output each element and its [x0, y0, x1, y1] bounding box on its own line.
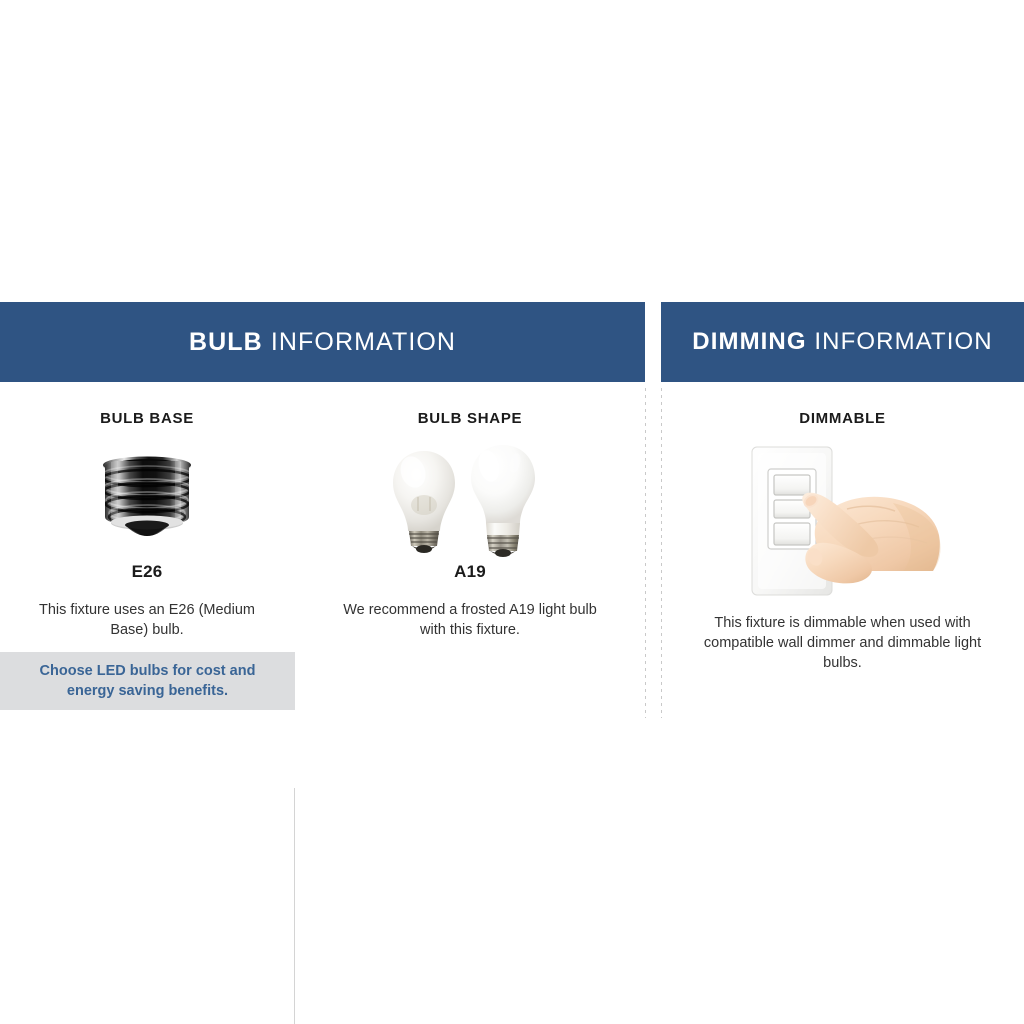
wall-dimmer-switch-icon	[743, 439, 943, 599]
a19-bulbs-icon	[385, 439, 555, 561]
bulb-information-header-title: BULB INFORMATION	[189, 328, 456, 357]
frosted-incandescent-bulb	[393, 451, 455, 553]
dimmable-art-slot	[661, 439, 1024, 599]
bulb-base-spec-label: E26	[0, 562, 294, 582]
bulb-columns-divider	[294, 788, 295, 1024]
bulb-header-strong: BULB	[189, 328, 263, 356]
bulb-base-art-slot	[0, 437, 294, 562]
dimming-information-header-title: DIMMING INFORMATION	[692, 328, 992, 356]
led-callout-box: Choose LED bulbs for cost and energy sav…	[0, 652, 295, 710]
bulb-information-header: BULB INFORMATION	[0, 302, 645, 382]
bulb-base-description: This fixture uses an E26 (Medium Base) b…	[30, 600, 265, 640]
bulb-shape-spec-label: A19	[295, 562, 645, 582]
bulb-base-column: BULB BASE	[0, 382, 294, 640]
e26-screw-base-icon	[95, 447, 199, 551]
led-a19-bulb	[471, 445, 535, 557]
dimmable-column: DIMMABLE	[661, 382, 1024, 673]
dimmable-description: This fixture is dimmable when used with …	[693, 613, 993, 673]
bulb-shape-title: BULB SHAPE	[295, 410, 645, 427]
bulb-shape-art-slot	[295, 437, 645, 562]
bulb-header-rest: INFORMATION	[263, 328, 456, 356]
dimming-information-header: DIMMING INFORMATION	[661, 302, 1024, 382]
dimming-header-strong: DIMMING	[692, 328, 806, 355]
hand-illustration	[801, 492, 941, 584]
bulb-shape-description: We recommend a frosted A19 light bulb wi…	[330, 600, 610, 640]
dimmable-title: DIMMABLE	[661, 410, 1024, 427]
section-divider-dotted-left	[645, 388, 646, 718]
dimming-information-panel: DIMMABLE	[661, 382, 1024, 722]
product-info-panel: BULB INFORMATION DIMMING INFORMATION BUL…	[0, 0, 1024, 1024]
led-callout-text: Choose LED bulbs for cost and energy sav…	[23, 661, 273, 701]
dimming-header-rest: INFORMATION	[807, 328, 993, 355]
bulb-shape-column: BULB SHAPE	[295, 382, 645, 640]
bulb-base-title: BULB BASE	[0, 410, 294, 427]
